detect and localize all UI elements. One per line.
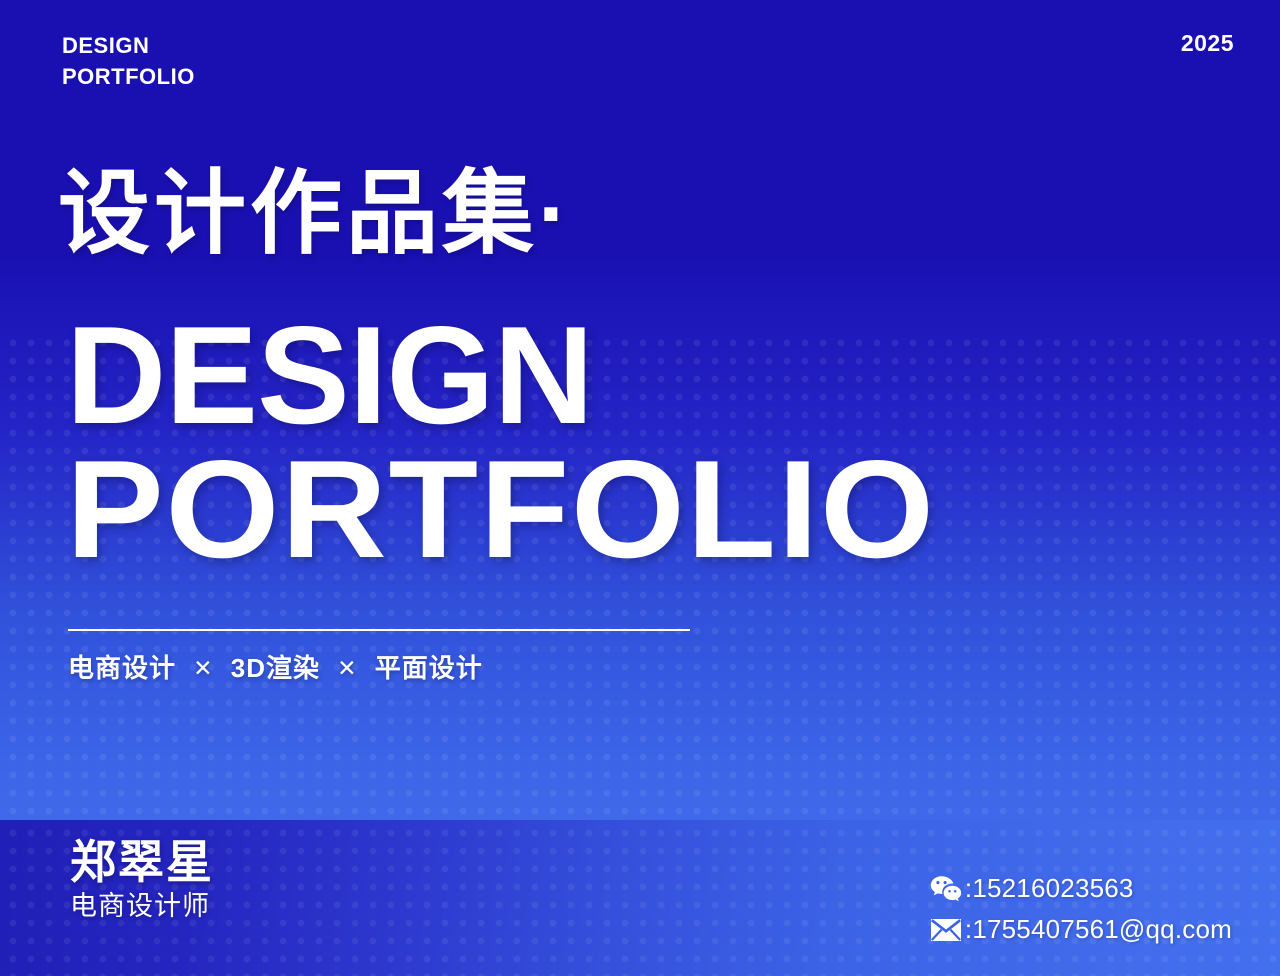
service-item-3: 平面设计 bbox=[375, 653, 483, 683]
contact-row-email: :1755407561@qq.com bbox=[929, 909, 1232, 950]
hero-wordmark: DESIGN PORTFOLIO bbox=[66, 312, 890, 574]
portfolio-cover: DESIGN PORTFOLIO 2025 设计作品集· DESIGN PORT… bbox=[0, 0, 1280, 976]
author-block: 郑翠星 电商设计师 bbox=[70, 838, 214, 923]
hero-wordmark-portfolio: PORTFOLIO bbox=[66, 446, 936, 574]
wechat-icon bbox=[929, 874, 963, 904]
author-name: 郑翠星 bbox=[70, 838, 214, 886]
header-brand-line1: DESIGN bbox=[62, 30, 195, 61]
service-separator-1: ✕ bbox=[184, 655, 222, 681]
author-role: 电商设计师 bbox=[70, 890, 214, 922]
footer-band: 郑翠星 电商设计师 :15216023563 bbox=[0, 820, 1280, 976]
service-item-2: 3D渲染 bbox=[231, 653, 320, 683]
hero-wordmark-design: DESIGN bbox=[66, 312, 890, 440]
hero-chinese-title: 设计作品集· bbox=[58, 168, 573, 260]
hero-services: 电商设计 ✕ 3D渲染 ✕ 平面设计 bbox=[68, 648, 483, 685]
contact-value-email: :1755407561@qq.com bbox=[965, 914, 1232, 945]
hero-divider bbox=[68, 629, 690, 631]
header-year: 2025 bbox=[1181, 30, 1234, 57]
header-brand: DESIGN PORTFOLIO bbox=[62, 30, 195, 92]
service-separator-2: ✕ bbox=[328, 655, 366, 681]
contact-row-wechat: :15216023563 bbox=[929, 868, 1232, 909]
service-item-1: 电商设计 bbox=[68, 653, 176, 683]
header-brand-line2: PORTFOLIO bbox=[62, 61, 195, 92]
contact-block: :15216023563 :1755407561@qq.com bbox=[929, 868, 1232, 950]
email-icon bbox=[929, 915, 963, 945]
contact-value-wechat: :15216023563 bbox=[965, 873, 1134, 904]
